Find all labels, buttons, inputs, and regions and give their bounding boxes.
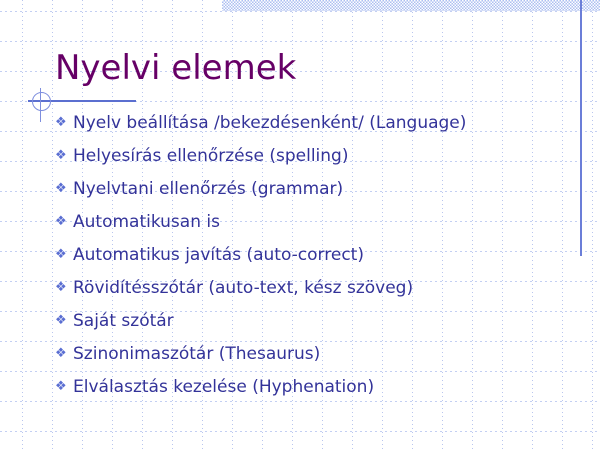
- diamond-bullet-icon: ❖: [55, 374, 73, 400]
- list-item-label: Elválasztás kezelése (Hyphenation): [73, 374, 575, 400]
- right-vertical-rule: [580, 0, 582, 256]
- diamond-bullet-icon: ❖: [55, 308, 73, 334]
- list-item: ❖ Nyelvtani ellenőrzés (grammar): [55, 176, 575, 209]
- decorative-circle-icon: [32, 92, 51, 111]
- list-item: ❖ Automatikus javítás (auto-correct): [55, 242, 575, 275]
- list-item-label: Saját szótár: [73, 308, 575, 334]
- list-item-label: Nyelv beállítása /bekezdésenként/ (Langu…: [73, 110, 575, 136]
- list-item-label: Szinonimaszótár (Thesaurus): [73, 341, 575, 367]
- list-item-label: Automatikusan is: [73, 209, 575, 235]
- list-item-label: Rövidítésszótár (auto-text, kész szöveg): [73, 275, 575, 301]
- list-item-label: Automatikus javítás (auto-correct): [73, 242, 575, 268]
- diamond-bullet-icon: ❖: [55, 341, 73, 367]
- list-item: ❖ Saját szótár: [55, 308, 575, 341]
- list-item-label: Helyesírás ellenőrzése (spelling): [73, 143, 575, 169]
- slide-canvas: Nyelvi elemek ❖ Nyelv beállítása /bekezd…: [0, 0, 600, 450]
- list-item-label: Nyelvtani ellenőrzés (grammar): [73, 176, 575, 202]
- diamond-bullet-icon: ❖: [55, 242, 73, 268]
- slide-title: Nyelvi elemek: [55, 48, 296, 88]
- list-item: ❖ Automatikusan is: [55, 209, 575, 242]
- bullet-list: ❖ Nyelv beállítása /bekezdésenként/ (Lan…: [55, 110, 575, 407]
- list-item: ❖ Helyesírás ellenőrzése (spelling): [55, 143, 575, 176]
- diamond-bullet-icon: ❖: [55, 110, 73, 136]
- list-item: ❖ Szinonimaszótár (Thesaurus): [55, 341, 575, 374]
- diamond-bullet-icon: ❖: [55, 143, 73, 169]
- list-item: ❖ Nyelv beállítása /bekezdésenként/ (Lan…: [55, 110, 575, 143]
- diamond-bullet-icon: ❖: [55, 176, 73, 202]
- diamond-bullet-icon: ❖: [55, 275, 73, 301]
- top-decorative-band: [222, 0, 600, 11]
- list-item: ❖ Rövidítésszótár (auto-text, kész szöve…: [55, 275, 575, 308]
- diamond-bullet-icon: ❖: [55, 209, 73, 235]
- list-item: ❖ Elválasztás kezelése (Hyphenation): [55, 374, 575, 407]
